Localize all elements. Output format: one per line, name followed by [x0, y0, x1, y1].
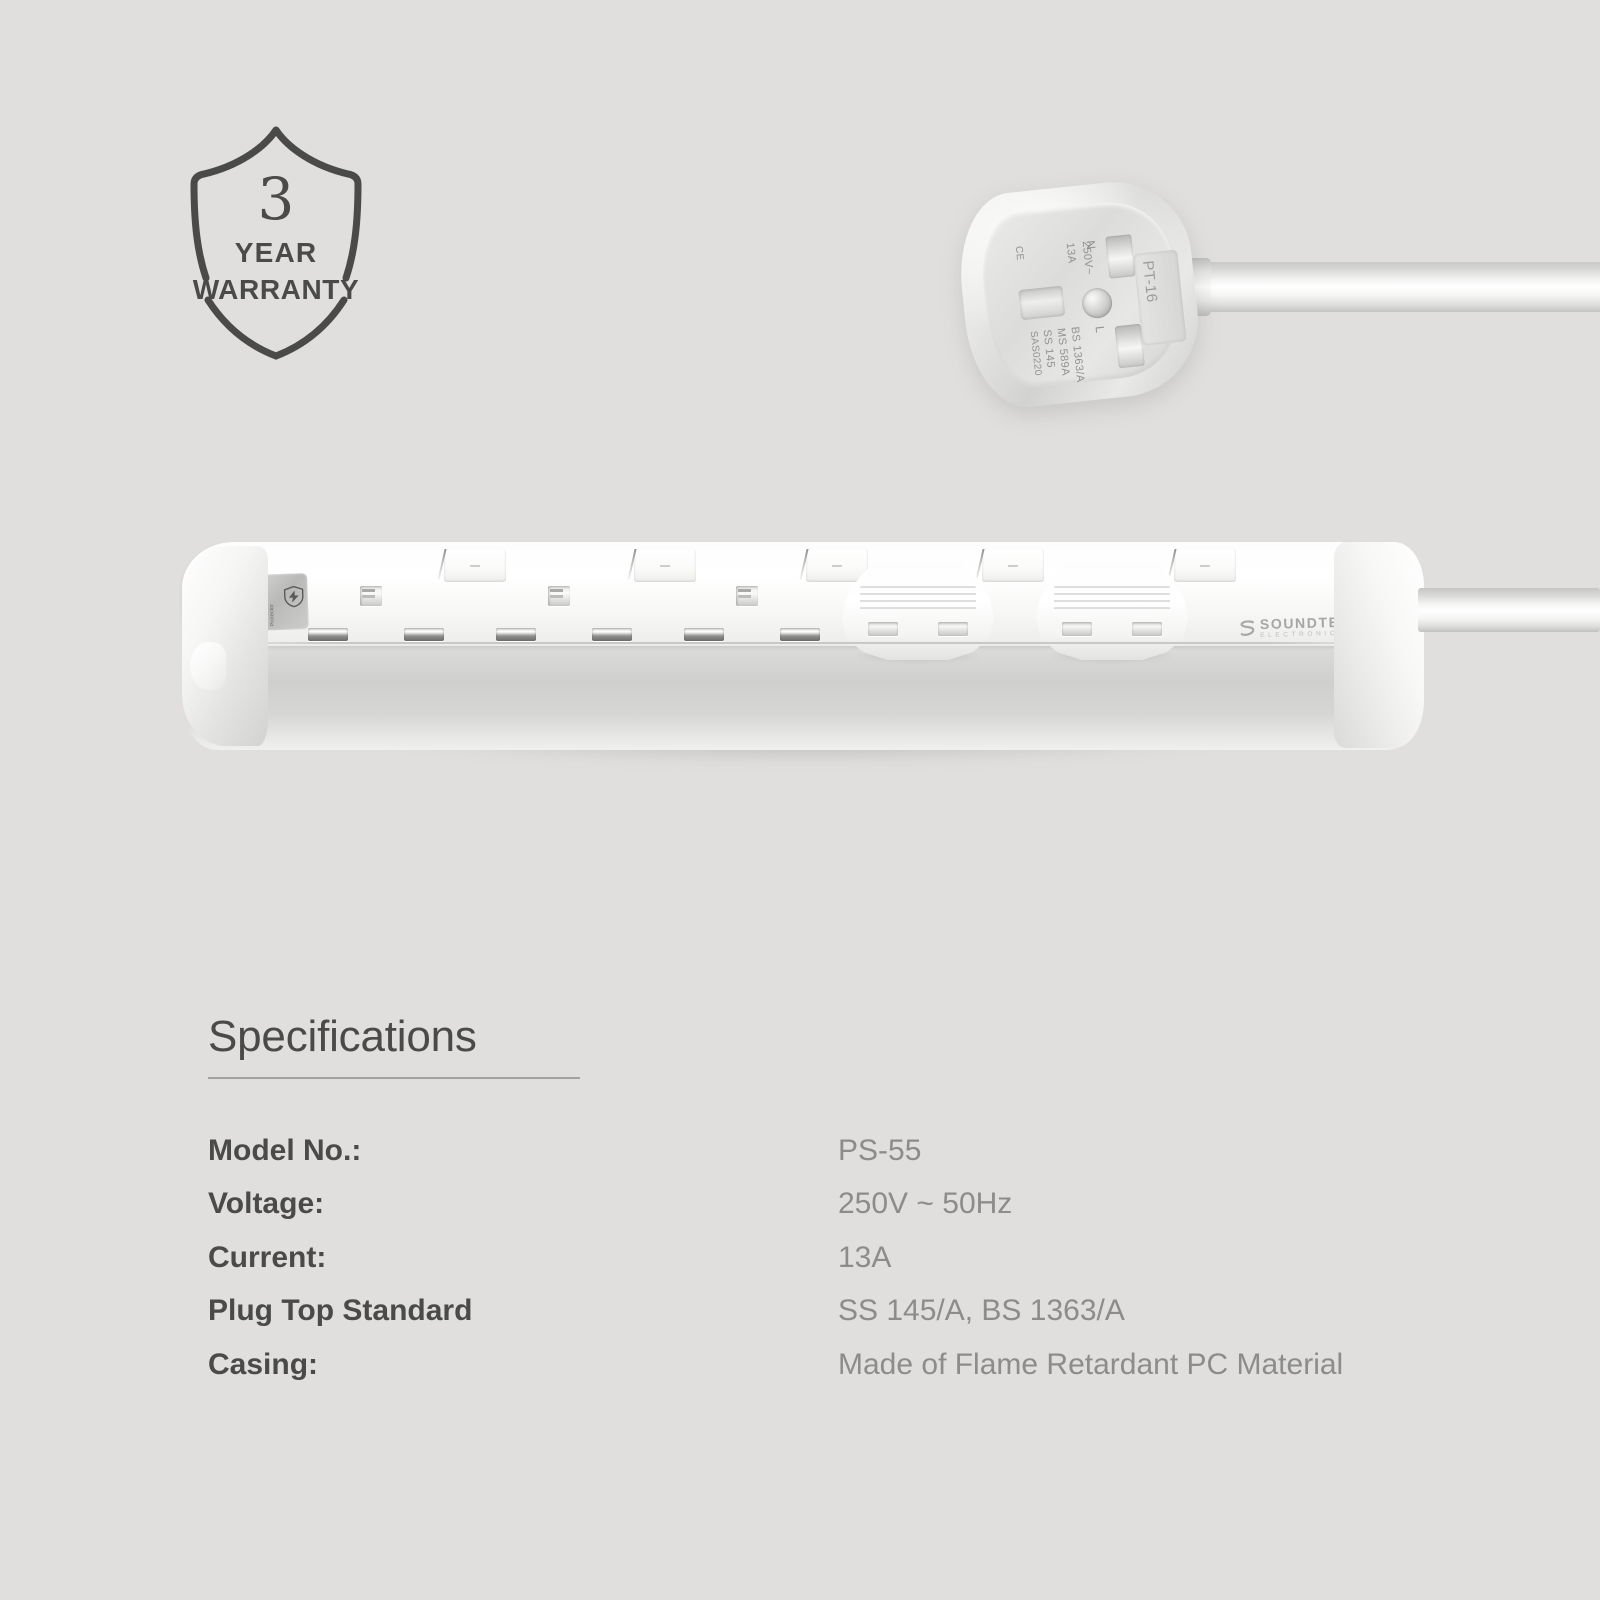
socket-safety-cover-1[interactable] [842, 562, 994, 666]
cover-pin-left [1062, 622, 1092, 636]
socket-safety-cover-2[interactable] [1036, 562, 1188, 666]
soundtech-s-mark-icon [1240, 620, 1255, 636]
socket-neutral-slot [592, 628, 632, 641]
socket-neutral-slot [780, 628, 820, 641]
strip-left-highlight [190, 642, 226, 690]
strip-left-end [182, 546, 268, 746]
specification-row: Current:13A [208, 1242, 1488, 1296]
cover-pin-right [1132, 622, 1162, 636]
cover-body [842, 562, 994, 660]
cover-pin-right [938, 622, 968, 636]
socket-live-slot [308, 628, 348, 641]
strip-seam-line [190, 642, 1414, 644]
strip-top-face: Surge Protector [182, 542, 1422, 646]
socket-live-slot [496, 628, 536, 641]
power-socket-2[interactable] [492, 572, 642, 658]
socket-earth-slot [548, 586, 570, 606]
socket-earth-slot [360, 586, 382, 606]
strip-power-cord [1418, 588, 1600, 632]
warranty-badge: 3 YEAR WARRANTY [168, 122, 384, 364]
specifications-underline [208, 1077, 580, 1079]
power-extension-socket: Surge Protector [182, 516, 1422, 776]
plug-mark-standard-ss: SS 145 [1041, 329, 1057, 369]
specifications-title: Specifications [208, 1012, 1488, 1063]
cover-warning-emboss [860, 586, 976, 612]
plug-mark-certification: CE [1013, 246, 1025, 262]
surge-shield-icon [283, 585, 304, 608]
plug-center-screw [1081, 287, 1114, 320]
specification-value: 13A [838, 1242, 1488, 1296]
specification-row: Plug Top StandardSS 145/A, BS 1363/A [208, 1295, 1488, 1349]
cover-body [1036, 562, 1188, 660]
cover-warning-emboss [1054, 586, 1170, 612]
plug-fuse-holder [1018, 286, 1065, 320]
specifications-section: Specifications Model No.:PS-55Voltage:25… [208, 1012, 1488, 1402]
specifications-table: Model No.:PS-55Voltage:250V ~ 50HzCurren… [208, 1135, 1488, 1403]
socket-live-slot [684, 628, 724, 641]
specification-row: Voltage:250V ~ 50Hz [208, 1188, 1488, 1242]
strip-right-end [1334, 542, 1424, 748]
specification-label: Plug Top Standard [208, 1295, 838, 1349]
specification-label: Voltage: [208, 1188, 838, 1242]
warranty-year-label: YEAR [168, 237, 384, 269]
specification-label: Casing: [208, 1349, 838, 1403]
socket-earth-slot [736, 586, 758, 606]
specification-value: SS 145/A, BS 1363/A [838, 1295, 1488, 1349]
specification-value: PS-55 [838, 1135, 1488, 1189]
warranty-word-label: WARRANTY [168, 274, 384, 306]
plug-body: CE 13A 250V~ N L SAS0220 SS 145 MS 589A … [952, 174, 1205, 412]
cover-pin-left [868, 622, 898, 636]
plug-mark-current: 13A [1064, 242, 1078, 264]
specification-label: Current: [208, 1242, 838, 1296]
specification-row: Casing:Made of Flame Retardant PC Materi… [208, 1349, 1488, 1403]
uk-plug-top-image: CE 13A 250V~ N L SAS0220 SS 145 MS 589A … [955, 180, 1600, 420]
power-socket-3[interactable] [680, 572, 830, 658]
warranty-years-number: 3 [168, 170, 384, 228]
power-socket-1[interactable] [304, 572, 454, 658]
specification-value: Made of Flame Retardant PC Material [838, 1349, 1488, 1403]
specification-label: Model No.: [208, 1135, 838, 1189]
plug-rear-face: CE 13A 250V~ N L SAS0220 SS 145 MS 589A … [976, 196, 1183, 391]
specification-row: Model No.:PS-55 [208, 1135, 1488, 1189]
plug-mark-neutral: N [1084, 240, 1099, 250]
plug-neutral-terminal [1105, 234, 1135, 278]
socket-neutral-slot [404, 628, 444, 641]
specification-value: 250V ~ 50Hz [838, 1188, 1488, 1242]
plug-cable [1177, 262, 1600, 312]
plug-mark-live: L [1093, 325, 1108, 334]
